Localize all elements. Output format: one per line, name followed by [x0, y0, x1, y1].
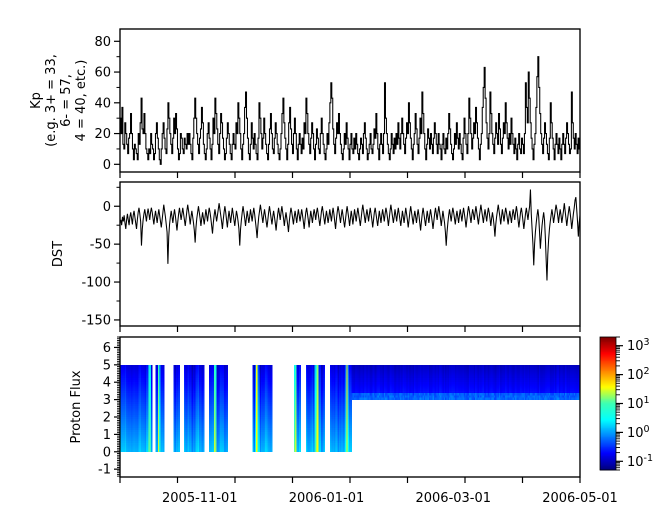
figure-canvas: 0204060800-50-100-150-101234562005-11-01…	[0, 0, 665, 523]
kp-ytick-label: 80	[94, 35, 111, 50]
kp-axis-title-line: 6- = 57,	[59, 74, 74, 127]
figure-root: 0204060800-50-100-150-101234562005-11-01…	[0, 0, 665, 523]
kp-axis-title-line: 4 = 40, etc.)	[74, 60, 89, 142]
dst-ytick-label: -100	[81, 276, 111, 291]
pf-ytick-label: 2	[103, 411, 111, 426]
colorbar-tick-label: 101	[627, 395, 650, 412]
x-axis-tick-label: 2006-01-01	[289, 491, 365, 506]
dst-panel	[120, 182, 580, 326]
x-axis-tick-label: 2005-11-01	[162, 491, 238, 506]
proton-flux-axis-title: Proton Flux	[69, 370, 84, 443]
colorbar-tick-label: 102	[627, 366, 650, 383]
pf-ytick-label: 4	[103, 376, 111, 391]
x-axis-tick-label: 2006-03-01	[415, 491, 491, 506]
dst-ytick-label: -50	[90, 238, 111, 253]
pf-ytick-label: 5	[103, 358, 111, 373]
colorbar: 10310210110010-1	[600, 337, 653, 471]
dst-axis-title: DST	[51, 241, 66, 267]
dst-ytick-label: -150	[81, 313, 111, 328]
kp-axis-title-line: Kp	[29, 92, 44, 109]
colorbar-tick-label: 10-1	[627, 453, 653, 470]
kp-ytick-label: 0	[103, 158, 111, 173]
colorbar-tick-label: 100	[627, 424, 650, 441]
kp-axis-title-line: (e.g. 3+ = 33,	[44, 54, 59, 147]
x-axis-tick-label: 2006-05-01	[542, 491, 618, 506]
colorbar-tick-label: 103	[627, 337, 650, 354]
pf-ytick-label: 6	[103, 341, 111, 356]
pf-ytick-label: 0	[103, 445, 111, 460]
kp-ytick-label: 60	[94, 66, 111, 81]
dst-ytick-label: 0	[103, 200, 111, 215]
pf-ytick-label: 3	[103, 393, 111, 408]
kp-ytick-label: 40	[94, 96, 111, 111]
pf-ytick-label: -1	[98, 463, 111, 478]
pf-ytick-label: 1	[103, 428, 111, 443]
kp-ytick-label: 20	[94, 127, 111, 142]
